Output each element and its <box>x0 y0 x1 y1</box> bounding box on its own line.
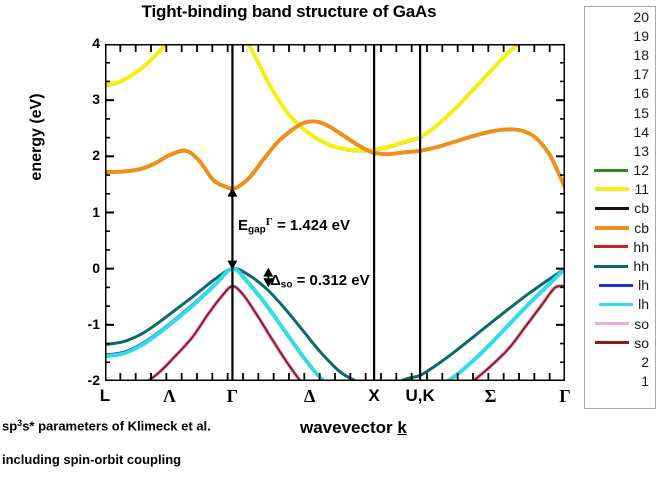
legend-item-cb-11[interactable]: cb <box>585 218 655 237</box>
legend-item-13-7[interactable]: 13 <box>585 141 655 160</box>
x-tick-label-1: Λ <box>163 386 176 407</box>
legend-item-lh-15[interactable]: lh <box>585 295 655 314</box>
bandgap-symbol: E <box>238 217 248 234</box>
legend-swatch-15-5 <box>594 111 628 114</box>
legend-label-16: so <box>634 317 649 331</box>
legend-item-18-2[interactable]: 18 <box>585 45 655 64</box>
y-tick-label-1: 1 <box>92 204 100 220</box>
legend-label-9: 11 <box>634 182 649 196</box>
legend-swatch-so-17 <box>595 341 629 344</box>
bandgap-annotation: EgapΓ = 1.424 eV <box>238 216 350 235</box>
band-structure-plot <box>105 44 565 381</box>
x-tick-label-7: Γ <box>559 386 570 407</box>
y-tick-label--1: -1 <box>88 316 100 332</box>
y-tick-label-4: 4 <box>92 35 100 51</box>
legend-swatch-13-7 <box>594 149 628 152</box>
x-tick-label-2: Γ <box>227 386 238 407</box>
legend-label-4: 16 <box>633 86 649 100</box>
footnote-sp: sp <box>2 419 17 434</box>
bandgap-value: = 1.424 eV <box>273 217 350 234</box>
legend-item-17-3[interactable]: 17 <box>585 65 655 84</box>
x-tick-label-0: L <box>100 386 110 406</box>
x-tick-label-4: X <box>368 386 379 406</box>
x-tick-label-5: U,K <box>405 386 434 406</box>
legend-swatch-cb-10 <box>595 207 629 210</box>
spin-orbit-subscript: so <box>281 280 293 291</box>
legend-label-15: lh <box>638 297 649 311</box>
legend-item-16-4[interactable]: 16 <box>585 84 655 103</box>
legend-label-12: hh <box>633 240 649 254</box>
legend-panel[interactable]: 20191817161514131211cbcbhhhhlhlhsoso21 <box>584 6 656 409</box>
y-tick-label-0: 0 <box>92 260 100 276</box>
x-axis-title-text: wavevector <box>300 418 397 437</box>
legend-label-10: cb <box>634 201 649 215</box>
x-axis-tick-labels: LΛΓΔXU,KΣΓ <box>105 386 565 416</box>
legend-item-1-19[interactable]: 1 <box>585 372 655 391</box>
legend-swatch-cb-11 <box>595 226 629 230</box>
legend-label-18: 2 <box>641 355 649 369</box>
legend-label-1: 19 <box>633 29 649 43</box>
legend-item-12-8[interactable]: 12 <box>585 161 655 180</box>
legend-label-13: hh <box>633 259 649 273</box>
legend-swatch-hh-13 <box>594 265 628 268</box>
legend-swatch-18-2 <box>594 53 628 56</box>
footnote-parameters: sp3s* parameters of Klimeck et al. <box>2 418 211 434</box>
legend-swatch-2-18 <box>602 360 636 363</box>
legend-label-0: 20 <box>633 10 649 24</box>
plot-area <box>105 44 565 381</box>
spin-orbit-annotation: Δso = 0.312 eV <box>270 272 370 291</box>
legend-swatch-16-4 <box>594 92 628 95</box>
legend-swatch-20-0 <box>594 15 628 18</box>
x-axis-title-k: k <box>397 418 406 437</box>
legend-item-19-1[interactable]: 19 <box>585 26 655 45</box>
y-axis-tick-labels: 43210-1-2 <box>60 44 100 381</box>
legend-swatch-lh-15 <box>599 303 633 306</box>
legend-swatch-11-9 <box>595 187 629 191</box>
legend-swatch-so-16 <box>595 322 629 325</box>
legend-label-5: 15 <box>633 106 649 120</box>
legend-swatch-12-8 <box>594 169 628 172</box>
bandgap-superscript: Γ <box>266 216 273 228</box>
legend-item-so-16[interactable]: so <box>585 314 655 333</box>
bandgap-subscript: gap <box>248 224 266 235</box>
legend-label-6: 14 <box>633 125 649 139</box>
legend-item-hh-12[interactable]: hh <box>585 237 655 256</box>
legend-label-19: 1 <box>641 374 649 388</box>
legend-item-so-17[interactable]: so <box>585 333 655 352</box>
legend-label-17: so <box>634 336 649 350</box>
y-tick-label-3: 3 <box>92 91 100 107</box>
legend-label-14: lh <box>638 278 649 292</box>
y-tick-label-2: 2 <box>92 147 100 163</box>
x-axis-title: wavevector k <box>300 418 407 438</box>
spin-orbit-value: = 0.312 eV <box>292 272 369 289</box>
footnote-rest: s* parameters of Klimeck et al. <box>22 419 211 434</box>
spin-orbit-symbol: Δ <box>270 272 281 289</box>
legend-list: 20191817161514131211cbcbhhhhlhlhsoso21 <box>585 7 655 408</box>
legend-item-11-9[interactable]: 11 <box>585 180 655 199</box>
legend-item-cb-10[interactable]: cb <box>585 199 655 218</box>
legend-label-11: cb <box>634 221 649 235</box>
x-tick-label-3: Δ <box>304 386 315 407</box>
x-tick-label-6: Σ <box>485 386 497 407</box>
legend-swatch-1-19 <box>602 380 636 383</box>
legend-swatch-17-3 <box>594 73 628 76</box>
legend-item-hh-13[interactable]: hh <box>585 256 655 275</box>
legend-item-lh-14[interactable]: lh <box>585 276 655 295</box>
legend-item-2-18[interactable]: 2 <box>585 352 655 371</box>
legend-item-15-5[interactable]: 15 <box>585 103 655 122</box>
y-tick-label--2: -2 <box>88 372 100 388</box>
legend-item-20-0[interactable]: 20 <box>585 7 655 26</box>
legend-label-8: 12 <box>633 163 649 177</box>
legend-item-14-6[interactable]: 14 <box>585 122 655 141</box>
legend-swatch-14-6 <box>594 130 628 133</box>
band-structure-figure: Tight-binding band structure of GaAs ene… <box>0 0 660 486</box>
legend-label-3: 17 <box>633 67 649 81</box>
plot-background <box>105 44 565 381</box>
page-title: Tight-binding band structure of GaAs <box>0 2 578 22</box>
y-axis-title: energy (eV) <box>28 62 46 212</box>
legend-swatch-19-1 <box>594 34 628 37</box>
footnote-spin-orbit: including spin-orbit coupling <box>2 452 181 467</box>
legend-label-7: 13 <box>633 144 649 158</box>
legend-swatch-lh-14 <box>599 284 633 287</box>
legend-label-2: 18 <box>633 48 649 62</box>
legend-swatch-hh-12 <box>594 245 628 248</box>
